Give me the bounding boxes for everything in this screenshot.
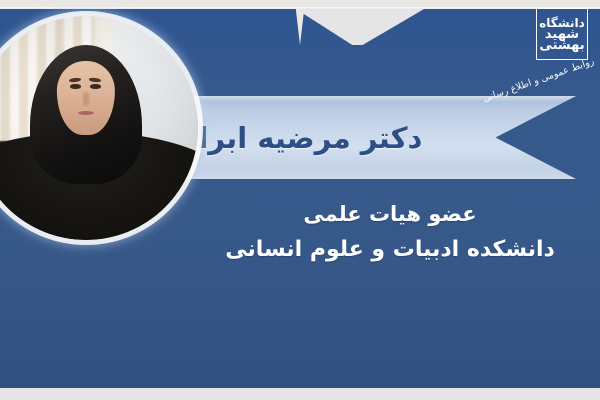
logo-line-beheshti: بهشتی <box>539 39 584 52</box>
portrait-frame <box>0 16 198 240</box>
faculty-profile-card: دکتر مرضیه ابراهیمی عضو هیات علمی دانشکد… <box>0 0 600 400</box>
faculty-role-line: عضو هیات علمی <box>180 200 600 230</box>
faculty-role-block: عضو هیات علمی دانشکده ادبیات و علوم انسا… <box>180 200 600 265</box>
photo-vignette <box>0 16 198 240</box>
portrait-photo <box>0 16 198 240</box>
logo-emblem-box: دانشگاه شهید بهشتی <box>536 8 588 60</box>
bottom-edge-line <box>0 385 600 388</box>
faculty-department-line: دانشکده ادبیات و علوم انسانی <box>180 234 600 265</box>
logo-emblem-text: دانشگاه شهید بهشتی <box>539 11 585 57</box>
university-logo: دانشگاه شهید بهشتی روابط عمومی و اطلاع ر… <box>490 6 594 92</box>
